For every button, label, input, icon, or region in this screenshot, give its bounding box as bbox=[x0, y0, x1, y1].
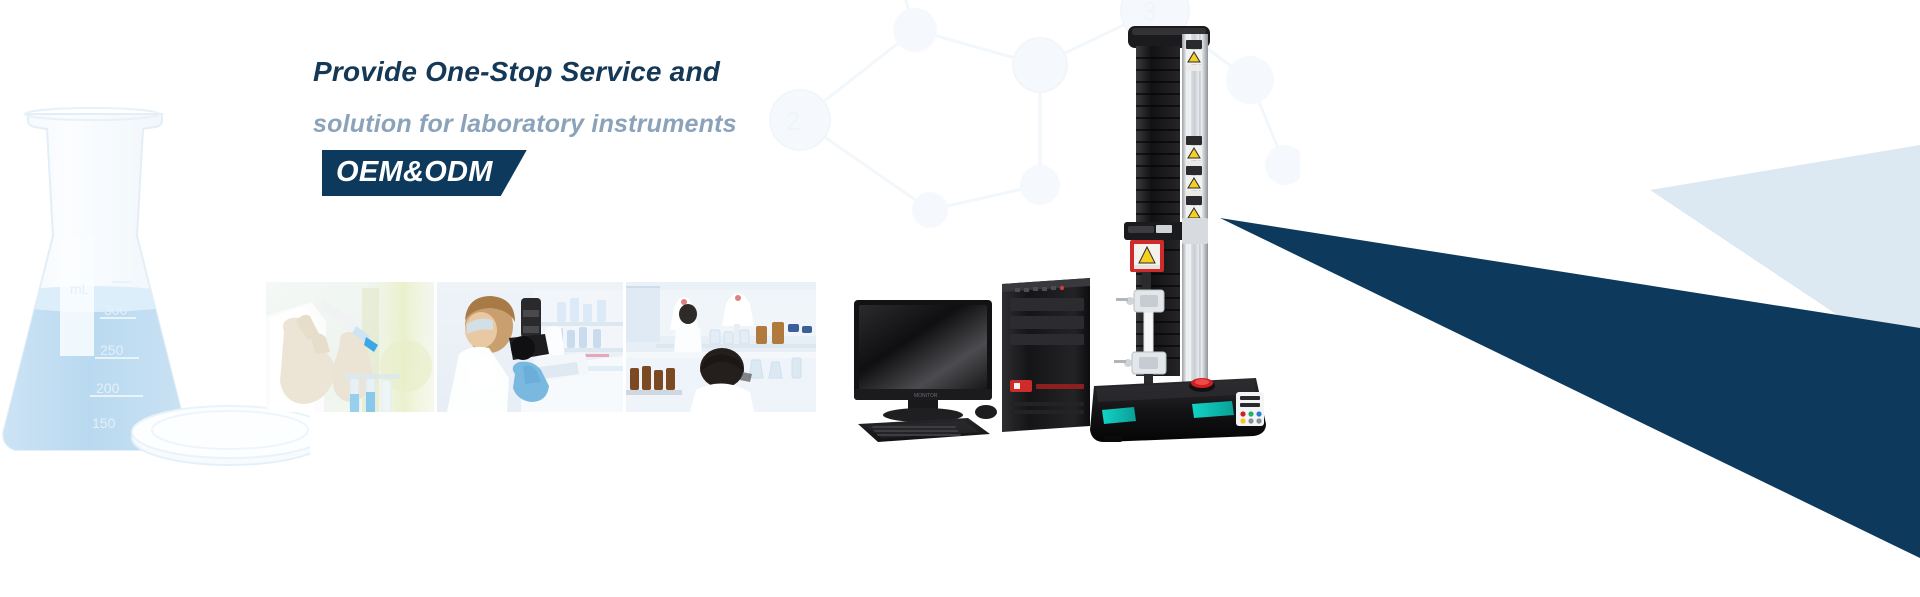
svg-text:MONITOR: MONITOR bbox=[914, 393, 938, 399]
badge-wrapper: OEM&ODM bbox=[322, 150, 527, 196]
photo-pipetting bbox=[266, 282, 434, 412]
flask-grad-150: 150 bbox=[92, 415, 116, 431]
photo-strip bbox=[266, 282, 816, 412]
arrow-dark-triangle bbox=[1220, 140, 1920, 560]
copy-block: Provide One-Stop Service and solution fo… bbox=[313, 58, 933, 196]
oem-odm-badge: OEM&ODM bbox=[322, 150, 527, 196]
flask-grad-300: 300 bbox=[104, 302, 128, 318]
universal-testing-machine bbox=[1086, 18, 1306, 448]
flask-grad-250: 250 bbox=[100, 342, 124, 358]
machine-base bbox=[1090, 378, 1266, 442]
desktop-computer: MONITOR bbox=[852, 276, 1102, 451]
promo-banner: 2 3 bbox=[0, 0, 1920, 597]
photo-microscope bbox=[437, 282, 623, 412]
computer-tower bbox=[1002, 278, 1090, 432]
erlenmeyer-flask-illustration: 300 250 200 150 mL bbox=[0, 96, 310, 476]
load-cell bbox=[1130, 240, 1164, 272]
flask-unit-label: mL bbox=[70, 281, 90, 297]
monitor: MONITOR bbox=[854, 300, 992, 422]
petri-dish bbox=[132, 406, 310, 465]
photo-lab-bench bbox=[626, 282, 816, 412]
subline: solution for laboratory instruments bbox=[313, 112, 933, 137]
headline: Provide One-Stop Service and bbox=[313, 58, 933, 86]
flask-grad-200: 200 bbox=[96, 380, 120, 396]
